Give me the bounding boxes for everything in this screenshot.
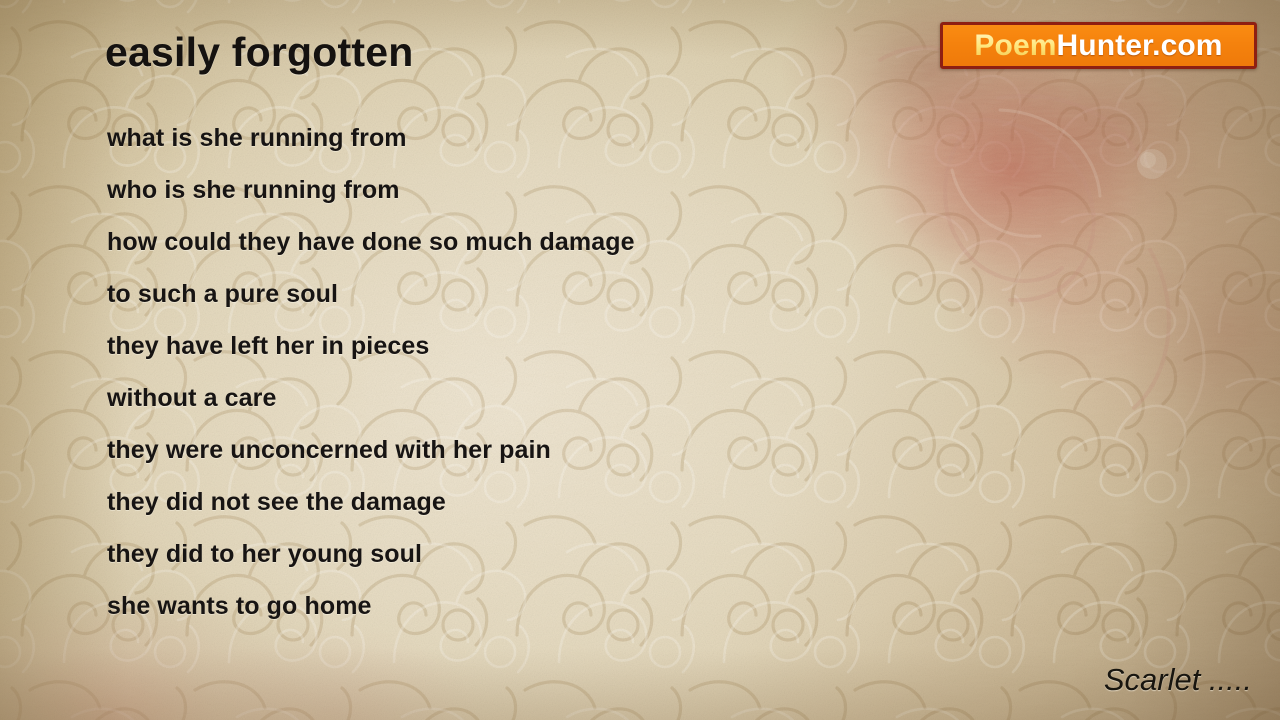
poem-line: without a care <box>107 372 1007 424</box>
poem-line: they were unconcerned with her pain <box>107 424 1007 476</box>
logo-text-poem: Poem <box>974 29 1056 62</box>
poem-line: they did to her young soul <box>107 528 1007 580</box>
poem-page: easily forgotten what is she running fro… <box>0 0 1280 720</box>
poem-line: they did not see the damage <box>107 476 1007 528</box>
poemhunter-logo[interactable]: PoemHunter.com <box>940 22 1257 69</box>
poem-line: how could they have done so much damage <box>107 216 1007 268</box>
poem-line: she wants to go home <box>107 580 1007 632</box>
poem-title: easily forgotten <box>105 29 413 76</box>
poem-line: they have left her in pieces <box>107 320 1007 372</box>
logo-text: PoemHunter.com <box>974 31 1222 61</box>
poem-author: Scarlet ..... <box>1104 662 1252 698</box>
poem-line: what is she running from <box>107 112 1007 164</box>
poem-line: to such a pure soul <box>107 268 1007 320</box>
poem-line: who is she running from <box>107 164 1007 216</box>
logo-text-hunter: Hunter.com <box>1057 29 1223 62</box>
poem-body: what is she running from who is she runn… <box>107 112 1007 632</box>
